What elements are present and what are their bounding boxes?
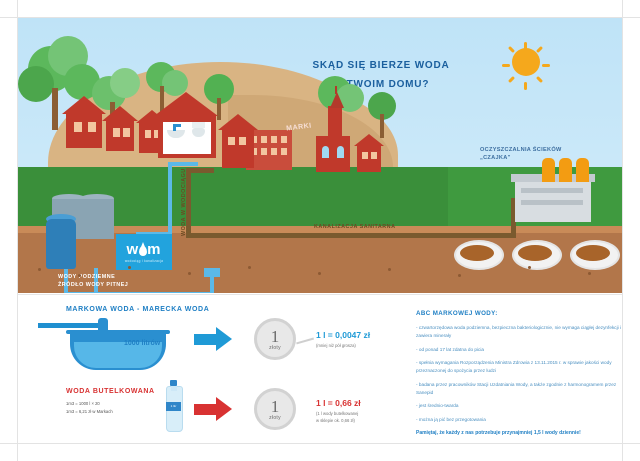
coin-pointer <box>296 338 314 344</box>
coin-number: 1 <box>271 398 280 415</box>
coin-label: złoty <box>269 345 281 351</box>
coin-bottled-water: 1 złoty <box>254 388 296 430</box>
wwtp-band <box>521 188 583 193</box>
sewer-pipe-horizontal <box>186 233 516 238</box>
abc-item: - spełnia wymagania Rozporządzenia Minis… <box>416 359 622 375</box>
settling-basin-icon <box>570 240 620 270</box>
coin-number: 1 <box>271 328 280 345</box>
bottle-cap <box>170 380 177 386</box>
water-supply-pipe-vertical <box>168 166 172 236</box>
bottled-water-heading: WODA BUTELKOWANA <box>66 388 155 395</box>
abc-item: - badana przez pracowników Stacji Uzdatn… <box>416 381 622 397</box>
well-pipe-1 <box>64 268 68 293</box>
settling-basin-icon <box>454 240 504 270</box>
abc-note: Pamiętaj, że każdy z nas potrzebuje przy… <box>416 430 622 438</box>
abc-item: - jest średnio-twarda <box>416 402 622 410</box>
blue-tank-icon <box>46 219 76 269</box>
tap-water-price-sub: (mniej niż pół grosza) <box>316 342 370 349</box>
infographic-page: SKĄD SIĘ BIERZE WODA W TWOIM DOMU? <box>0 0 640 461</box>
label-groundwater-2: ŹRÓDŁO WODY PITNEJ <box>58 282 128 288</box>
waterworks-logo: wm wodociąg i kanalizacja <box>116 234 172 270</box>
comparison-band: MARKOWA WODA - MARECKA WODA 1000 litrów … <box>18 300 622 445</box>
tap-water-volume: 1000 litrów <box>124 340 160 347</box>
divider <box>18 294 622 295</box>
well-pipe-2 <box>94 268 98 293</box>
well-pipe-3 <box>210 276 214 293</box>
coin-tap-water: 1 złoty <box>254 318 296 360</box>
silo-icon <box>576 158 589 182</box>
groundwater-collector <box>64 292 214 293</box>
bottled-sub-2: 1m3 = 6,21 zł w Markach <box>66 408 113 416</box>
label-wwtp-line1: OCZYSZCZALNIA ŚCIEKÓW <box>480 146 600 154</box>
bottle-label: 1 litr <box>166 402 181 411</box>
bottled-water-price: 1 l = 0,66 zł <box>316 398 361 408</box>
silo-icon <box>559 158 572 182</box>
abc-section: ABC MARKOWEJ WODY: - czwartorzędowa woda… <box>416 310 622 437</box>
abc-title: ABC MARKOWEJ WODY: <box>416 310 622 317</box>
silo-icon <box>542 158 555 182</box>
bottled-price-sub-2: w sklepie ok. 0,66 zł) <box>316 417 361 424</box>
coin-label: złoty <box>269 415 281 421</box>
water-supply-pipe-horizontal <box>168 162 198 166</box>
bottled-price-sub-1: (1 l wody butelkowanej <box>316 410 361 417</box>
title-line-1: SKĄD SIĘ BIERZE WODA <box>276 56 486 75</box>
label-water-in-pipe: WODA W WODOCIĄGU <box>181 168 187 236</box>
abc-item: - można ją pić bez przegotowania <box>416 416 622 424</box>
abc-item: - czwartorzędowa woda podziemna, bezpiec… <box>416 324 622 340</box>
water-drop-icon <box>139 246 147 256</box>
label-groundwater-1: WODY PODZIEMNE <box>58 274 115 280</box>
settling-basin-icon <box>512 240 562 270</box>
valve-icon <box>204 268 220 277</box>
tap-pipe <box>38 323 104 328</box>
tap-water-heading: MARKOWA WODA - MARECKA WODA <box>66 306 209 313</box>
label-sanitary-sewer: KANALIZACJA SANITARNA <box>314 224 395 230</box>
wam-logo-subtitle: wodociąg i kanalizacja <box>125 259 163 263</box>
sewer-pipe-from-house <box>186 168 214 173</box>
page-fold-right <box>622 0 623 461</box>
bottled-water-price-block: 1 l = 0,66 zł (1 l wody butelkowanej w s… <box>316 398 361 424</box>
illustration-scene: SKĄD SIĘ BIERZE WODA W TWOIM DOMU? <box>18 18 622 293</box>
tap-water-price-block: 1 l = 0,0047 zł (mniej niż pół grosza) <box>316 330 370 349</box>
wam-logo-text: wm <box>126 242 161 257</box>
abc-item: - od ponad 17 lat zdatna do picia <box>416 346 622 354</box>
bottled-sub-1: 1m3 = 1000 l × 20 <box>66 400 113 408</box>
bottled-water-subtext: 1m3 = 1000 l × 20 1m3 = 6,21 zł w Markac… <box>66 400 113 415</box>
wwtp-band <box>521 200 583 205</box>
storage-tank-icon <box>80 199 114 239</box>
tap-water-price: 1 l = 0,0047 zł <box>316 330 370 340</box>
